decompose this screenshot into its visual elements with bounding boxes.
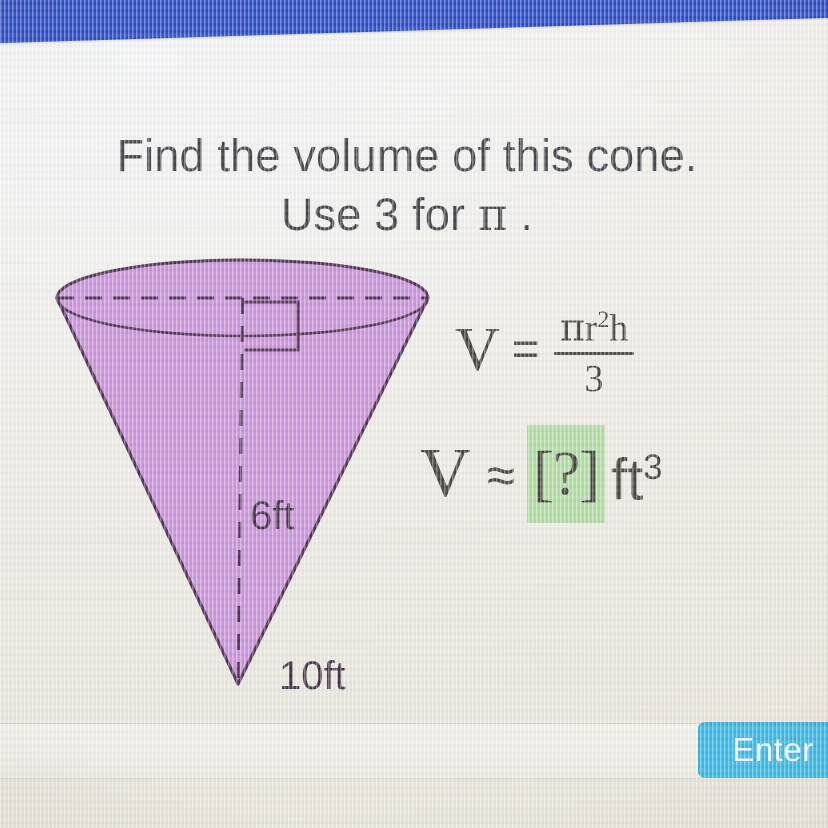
formula-fraction: πr2h 3	[554, 300, 634, 401]
unit-text: ft	[611, 447, 643, 512]
answer-equation: V ≈ [?] ft3	[420, 425, 663, 523]
volume-formula: V = πr2h 3	[455, 300, 815, 401]
quiz-screen: Find the volume of this cone. Use 3 for …	[0, 0, 828, 828]
formula-denominator: 3	[585, 355, 604, 401]
answer-unit: ft3	[611, 439, 663, 509]
height-label: 10ft	[279, 656, 346, 696]
question-line-1: Find the volume of this cone.	[0, 126, 828, 185]
unit-exponent: 3	[643, 448, 662, 487]
formula-equation: V = πr2h 3	[455, 300, 815, 401]
cone-diagram: 6ft 10ft	[36, 240, 456, 710]
blank-question-mark: ?	[553, 440, 580, 508]
formula-radius: r	[585, 308, 598, 350]
formula-radius-exponent: 2	[597, 307, 609, 333]
formula-numerator: πr2h	[554, 300, 634, 352]
answer-input[interactable]	[0, 724, 701, 778]
bracket-open: [	[533, 440, 553, 508]
formula-variable: V	[455, 321, 500, 379]
formula-equals: =	[512, 321, 540, 379]
pi-symbol: π	[478, 188, 508, 241]
question-line-2-suffix: .	[508, 189, 533, 240]
answer-variable: V	[420, 439, 471, 509]
approx-symbol: ≈	[487, 450, 516, 502]
question-prompt: Find the volume of this cone. Use 3 for …	[0, 126, 828, 244]
cone-svg	[36, 240, 456, 710]
question-line-2: Use 3 for π .	[0, 185, 828, 244]
enter-button[interactable]: Enter	[698, 722, 828, 778]
diameter-label: 6ft	[250, 496, 294, 536]
formula-pi-symbol: π	[560, 306, 585, 350]
formula-height-var: h	[609, 308, 628, 350]
answer-input-field[interactable]	[0, 723, 702, 779]
answer-blank-placeholder[interactable]: [?]	[527, 425, 605, 523]
bracket-close: ]	[579, 440, 599, 508]
question-line-2-prefix: Use 3 for	[281, 189, 478, 240]
